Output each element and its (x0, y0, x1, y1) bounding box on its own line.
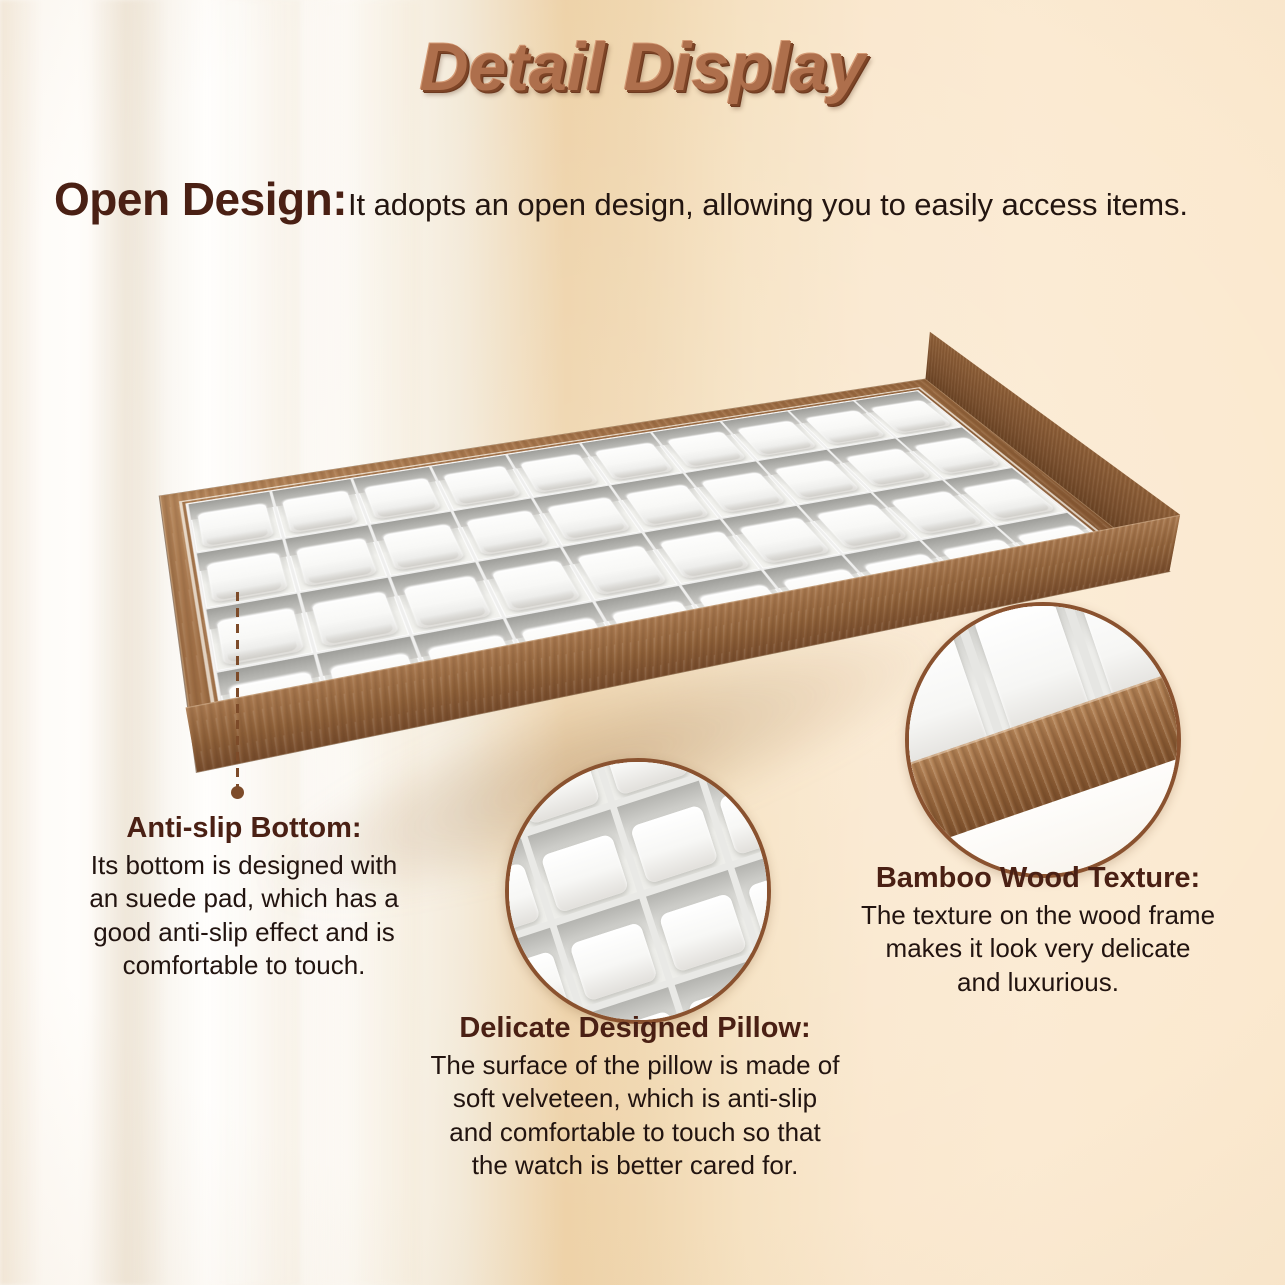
caption-anti-slip-bottom: Anti-slip Bottom: Its bottom is designed… (44, 812, 444, 982)
open-design-description: It adopts an open design, allowing you t… (348, 187, 1188, 223)
caption-line: good anti-slip effect and is (44, 916, 444, 949)
closeup-watch-pillow (718, 775, 771, 855)
caption-body: The surface of the pillow is made ofsoft… (395, 1049, 875, 1182)
anti-slip-leader-line (236, 592, 239, 790)
watch-pillow (577, 546, 668, 595)
tray-compartment (562, 533, 677, 600)
caption-line: Its bottom is designed with (44, 849, 444, 882)
caption-delicate-designed-pillow: Delicate Designed Pillow: The surface of… (395, 1012, 875, 1182)
caption-line: an suede pad, which has a (44, 882, 444, 915)
tray-compartment (478, 547, 591, 616)
tray-compartment (206, 593, 313, 670)
watch-pillow (207, 553, 288, 603)
caption-line: soft velveteen, which is anti-slip (395, 1082, 875, 1115)
closeup-watch-pillow (658, 893, 747, 973)
caption-line: makes it look very delicate (838, 932, 1238, 965)
caption-line: the watch is better cared for. (395, 1149, 875, 1182)
anti-slip-leader-dot (231, 786, 244, 799)
closeup-compartment (528, 810, 637, 919)
tray-compartment (285, 525, 387, 591)
wood-texture-closeup-circle (905, 602, 1181, 878)
closeup-compartment (645, 870, 754, 979)
caption-heading: Delicate Designed Pillow: (395, 1012, 875, 1045)
closeup-watch-pillow (569, 922, 658, 1002)
open-design-heading: Open Design: (54, 172, 347, 226)
watch-pillow (312, 592, 400, 647)
caption-line: and comfortable to touch so that (395, 1116, 875, 1149)
closeup-compartment (557, 898, 666, 1007)
caption-body: The texture on the wood framemakes it lo… (838, 899, 1238, 999)
pillow-closeup-grid (505, 758, 771, 1024)
caption-line: comfortable to touch. (44, 949, 444, 982)
caption-line: and luxurious. (838, 966, 1238, 999)
closeup-watch-pillow (512, 758, 601, 825)
caption-body: Its bottom is designed withan suede pad,… (44, 849, 444, 982)
tray-compartment (197, 540, 296, 608)
caption-heading: Bamboo Wood Texture: (838, 862, 1238, 895)
tray-compartment (391, 562, 502, 634)
pillow-closeup-circle (505, 758, 771, 1024)
watch-pillow (492, 561, 582, 612)
tray-compartment (300, 577, 409, 652)
watch-pillow (659, 532, 750, 579)
page-title: Detail Display (0, 28, 1285, 106)
closeup-watch-pillow (629, 804, 718, 884)
closeup-watch-pillow (747, 864, 771, 944)
caption-line: The surface of the pillow is made of (395, 1049, 875, 1082)
watch-pillow (217, 608, 303, 665)
caption-line: The texture on the wood frame (838, 899, 1238, 932)
caption-bamboo-wood-texture: Bamboo Wood Texture: The texture on the … (838, 862, 1238, 999)
watch-pillow (296, 538, 378, 586)
infographic-page: Detail Display Open Design: It adopts an… (0, 0, 1285, 1285)
watch-pillow (403, 576, 492, 629)
closeup-watch-pillow (541, 833, 630, 913)
closeup-watch-pillow (505, 862, 541, 942)
closeup-compartment (617, 781, 726, 890)
open-design-row: Open Design: It adopts an open design, a… (54, 172, 1254, 226)
caption-heading: Anti-slip Bottom: (44, 812, 444, 845)
